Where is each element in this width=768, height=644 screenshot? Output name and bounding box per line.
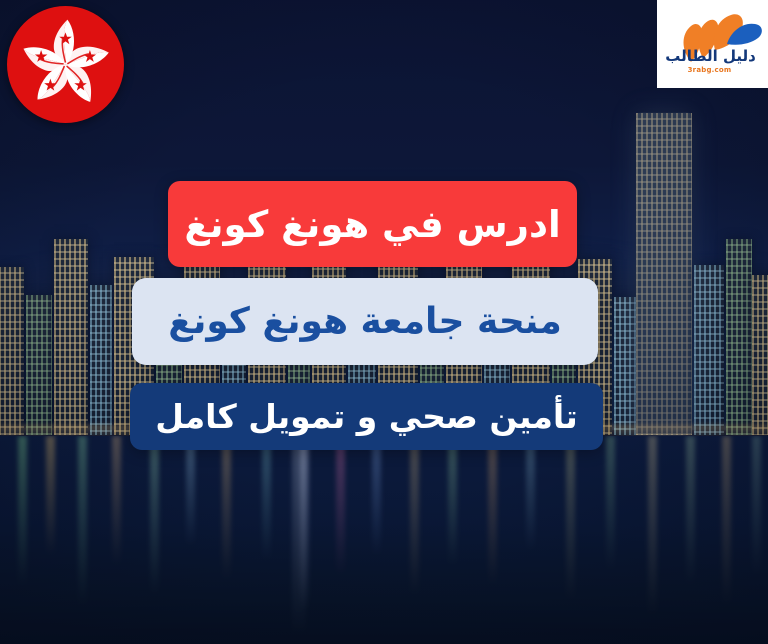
hong-kong-flag-badge xyxy=(7,6,124,123)
banner-hku-scholarship: منحة جامعة هونغ كونغ xyxy=(132,278,598,365)
harbour-water-reflection xyxy=(0,436,768,644)
brand-logo-subtitle: 3rabg.com xyxy=(657,66,762,74)
bauhinia-flower-icon xyxy=(7,6,124,123)
brand-swoosh-icon xyxy=(657,0,768,88)
banner-1-text: ادرس في هونغ كونغ xyxy=(184,203,560,246)
ifc-tower-highlight xyxy=(636,112,692,434)
poster: دليل الطالب 3rabg.com ادرس في هونغ كونغ … xyxy=(0,0,768,644)
banner-2-text: منحة جامعة هونغ كونغ xyxy=(168,301,562,342)
banner-3-text: تأمين صحي و تمويل كامل xyxy=(155,397,577,436)
brand-logo-title: دليل الطالب xyxy=(657,47,764,65)
banner-study-in-hong-kong: ادرس في هونغ كونغ xyxy=(168,181,577,267)
banner-health-insurance-full-funding: تأمين صحي و تمويل كامل xyxy=(130,383,603,450)
brand-logo-card[interactable]: دليل الطالب 3rabg.com xyxy=(657,0,768,88)
